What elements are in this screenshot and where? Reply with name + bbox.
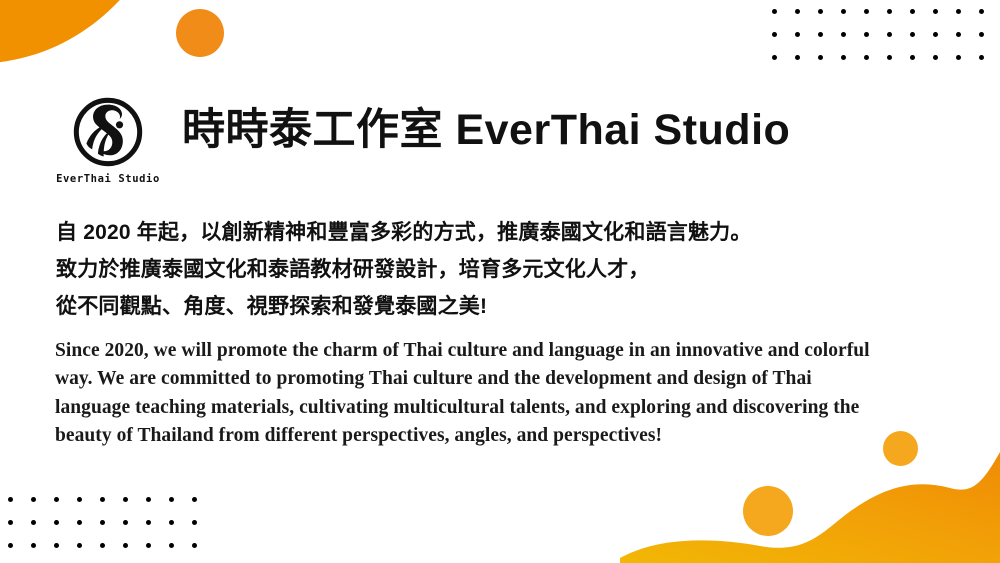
dot [169, 543, 174, 548]
dot [887, 32, 892, 37]
dot-grid-top-right [772, 9, 1000, 78]
slide-header: EverThai Studio 時時泰工作室 EverThai Studio [56, 96, 790, 185]
dot [795, 9, 800, 14]
english-description-block: Since 2020, we will promote the charm of… [55, 337, 941, 451]
dot [864, 55, 869, 60]
dot [795, 55, 800, 60]
dot [864, 9, 869, 14]
english-line: language teaching materials, cultivating… [55, 394, 941, 422]
dot [100, 497, 105, 502]
logo-block: EverThai Studio [56, 96, 160, 185]
logo-wordmark: EverThai Studio [56, 173, 160, 185]
dot [54, 543, 59, 548]
slide-canvas: EverThai Studio 時時泰工作室 EverThai Studio 自… [0, 0, 1000, 563]
dot [123, 497, 128, 502]
dot [772, 32, 777, 37]
everthai-circular-logo-icon [72, 96, 144, 168]
dot [77, 543, 82, 548]
dot [841, 55, 846, 60]
page-title: 時時泰工作室 EverThai Studio [182, 109, 790, 152]
dot [54, 497, 59, 502]
dot [795, 32, 800, 37]
dot [8, 497, 13, 502]
dot [933, 32, 938, 37]
dot [979, 55, 984, 60]
dot [956, 9, 961, 14]
orange-circle-bottom-right-large-icon [743, 486, 793, 536]
chinese-line: 從不同觀點、角度、視野探索和發覺泰國之美! [56, 288, 956, 325]
dot [772, 55, 777, 60]
chinese-line: 自 2020 年起，以創新精神和豐富多彩的方式，推廣泰國文化和語言魅力。 [56, 214, 956, 251]
dot [146, 543, 151, 548]
orange-circle-top-left-icon [176, 9, 224, 57]
dot-grid-bottom-left [8, 497, 215, 563]
dot [933, 55, 938, 60]
dot [910, 55, 915, 60]
dot [100, 520, 105, 525]
dot [887, 9, 892, 14]
chinese-description-block: 自 2020 年起，以創新精神和豐富多彩的方式，推廣泰國文化和語言魅力。 致力於… [56, 214, 956, 325]
dot [841, 9, 846, 14]
dot [31, 497, 36, 502]
english-line: way. We are committed to promoting Thai … [55, 365, 941, 393]
dot [979, 9, 984, 14]
dot [979, 32, 984, 37]
dot [123, 520, 128, 525]
dot [956, 55, 961, 60]
dot [31, 543, 36, 548]
english-line: Since 2020, we will promote the charm of… [55, 337, 941, 365]
english-line: beauty of Thailand from different perspe… [55, 422, 941, 450]
dot [818, 9, 823, 14]
dot [818, 32, 823, 37]
dot [956, 32, 961, 37]
dot [841, 32, 846, 37]
chinese-line: 致力於推廣泰國文化和泰語教材研發設計，培育多元文化人才， [56, 251, 956, 288]
dot [54, 520, 59, 525]
dot [910, 32, 915, 37]
dot [192, 497, 197, 502]
dot [169, 497, 174, 502]
orange-blob-top-left-icon [0, 0, 172, 65]
dot [146, 497, 151, 502]
dot [123, 543, 128, 548]
dot [146, 520, 151, 525]
dot [8, 543, 13, 548]
dot [100, 543, 105, 548]
dot [192, 543, 197, 548]
dot [77, 497, 82, 502]
dot [887, 55, 892, 60]
dot [864, 32, 869, 37]
dot [818, 55, 823, 60]
dot [8, 520, 13, 525]
dot [192, 520, 197, 525]
dot [77, 520, 82, 525]
dot [31, 520, 36, 525]
dot [169, 520, 174, 525]
dot [933, 9, 938, 14]
dot [772, 9, 777, 14]
dot [910, 9, 915, 14]
